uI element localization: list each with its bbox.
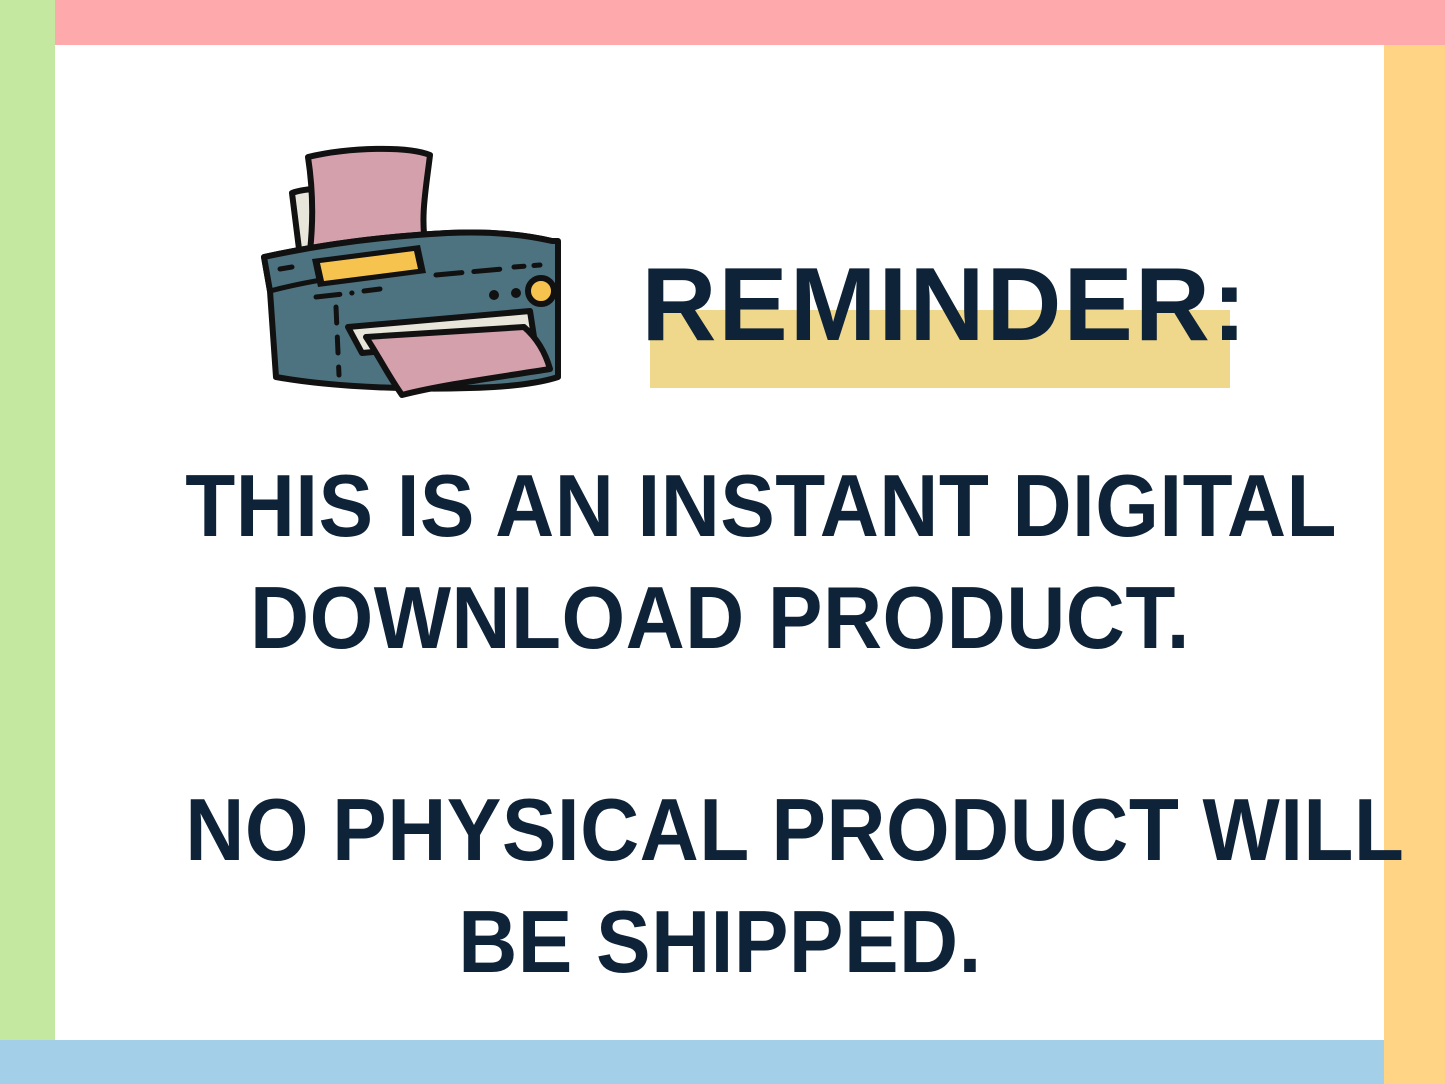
copy-line-4: BE SHIPPED. (185, 886, 1255, 998)
control-dot-1 (489, 290, 499, 300)
copy-line-2: DOWNLOAD PRODUCT. (185, 562, 1255, 674)
detail-dash-1 (280, 267, 292, 269)
poster-canvas: REMINDER: THIS IS AN INSTANT DIGITAL DOW… (0, 0, 1445, 1084)
decor-strip-left-green (0, 0, 55, 1040)
detail-dash-3 (364, 289, 380, 291)
copy-line-3: NO PHYSICAL PRODUCT WILL (185, 774, 1255, 886)
body-copy: THIS IS AN INSTANT DIGITAL DOWNLOAD PROD… (145, 450, 1295, 998)
copy-line-1: THIS IS AN INSTANT DIGITAL (185, 450, 1255, 562)
control-dot-2 (511, 288, 521, 298)
content-card: REMINDER: THIS IS AN INSTANT DIGITAL DOW… (55, 45, 1384, 1040)
decor-strip-bottom-blue (0, 1040, 1384, 1084)
decor-strip-top-pink (55, 0, 1445, 45)
page-title: REMINDER: (615, 250, 1275, 360)
decor-strip-right-yellow (1384, 45, 1445, 1084)
headline-block: REMINDER: (615, 250, 1295, 395)
copy-paragraph-gap (145, 674, 1295, 774)
printer-icon (240, 145, 585, 420)
power-light (528, 278, 554, 304)
